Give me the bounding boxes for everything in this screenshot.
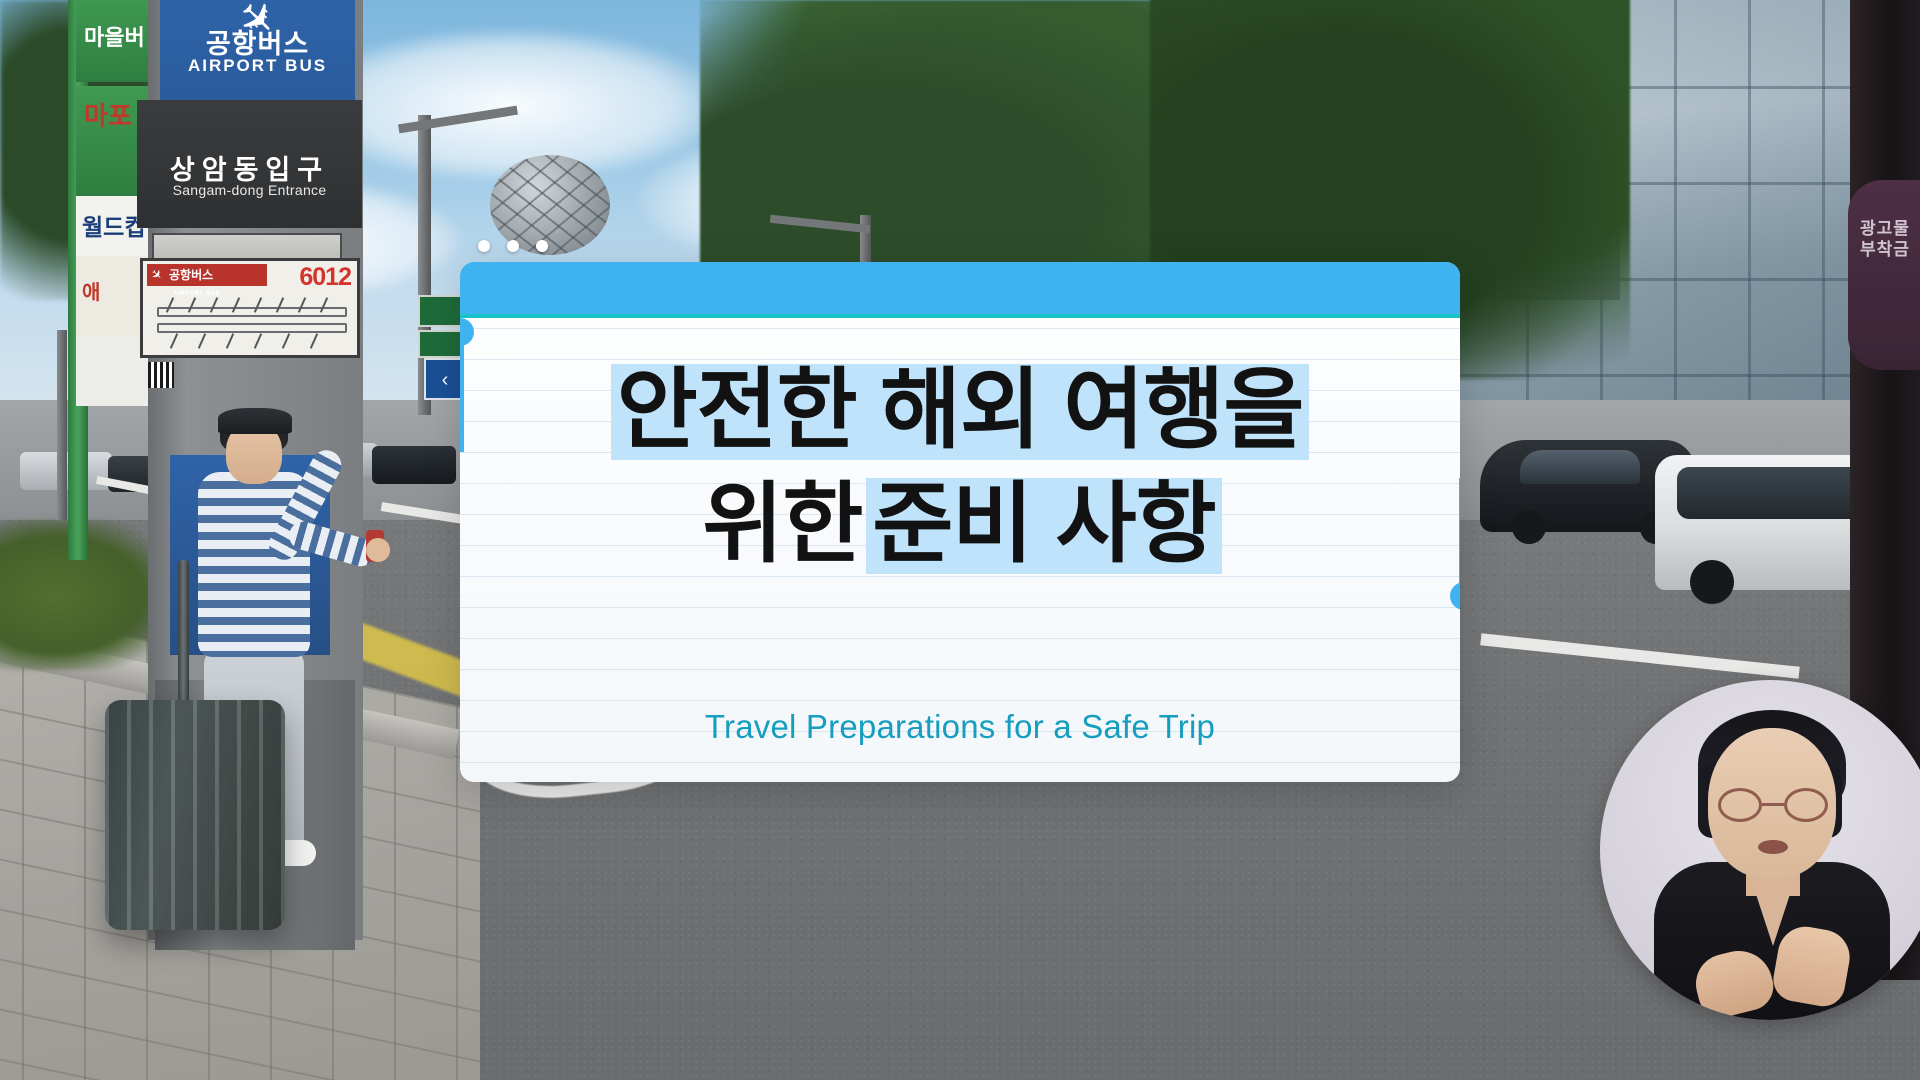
window-dot-2 xyxy=(507,240,519,252)
no-advertising-line2: 부착금 xyxy=(1848,239,1920,260)
eyeglass-bridge xyxy=(1762,803,1784,806)
person-cap xyxy=(218,408,292,434)
bus-stop-name-english: Sangam-dong Entrance xyxy=(137,182,362,198)
route-badge-english: AIRPORT BUS xyxy=(173,283,220,305)
route-stop-tick xyxy=(170,333,178,348)
eyeglasses-icon xyxy=(1718,788,1828,822)
traffic-light-pole xyxy=(57,330,67,520)
person-hand xyxy=(366,538,390,562)
bus-stop-name-sign: 상암동입구 Sangam-dong Entrance xyxy=(137,100,362,228)
window-dots xyxy=(478,240,548,252)
route-stop-tick xyxy=(254,333,262,348)
route-stop-tick xyxy=(282,333,290,348)
no-advertising-line1: 광고물 xyxy=(1848,218,1920,239)
title-card: 안전한 해외 여행을 위한준비 사항 Travel Preparations f… xyxy=(460,262,1460,782)
distant-car xyxy=(372,446,456,484)
airport-bus-sign-english: AIRPORT BUS xyxy=(160,56,355,76)
cloud xyxy=(300,30,720,180)
village-bus-sign-label: 마을버 xyxy=(84,20,145,52)
interpreter-mouth xyxy=(1758,840,1788,854)
suitcase-handle xyxy=(178,560,189,710)
route-stop-tick xyxy=(310,333,318,348)
car-wheel xyxy=(1690,560,1734,604)
window-dot-3 xyxy=(536,240,548,252)
title-line-1: 안전한 해외 여행을 xyxy=(460,364,1460,460)
route-badge-korean: 공항버스 xyxy=(169,268,213,282)
title-line-2-highlight-text: 준비 사항 xyxy=(866,478,1221,574)
title-block: 안전한 해외 여행을 위한준비 사항 xyxy=(460,340,1460,574)
ae-sign-label: 애 xyxy=(82,276,100,305)
car-wheel xyxy=(1512,510,1546,544)
route-line-diagram xyxy=(157,307,347,317)
eyeglass-lens-left xyxy=(1718,788,1762,822)
route-badge: 공항버스 AIRPORT BUS xyxy=(147,264,267,286)
card-header-accent-line xyxy=(460,314,1460,318)
accent-pin-bottom-right xyxy=(1459,478,1460,586)
worldcup-sign-label: 월드컵 xyxy=(82,208,145,242)
title-line-2-plain-text: 위한 xyxy=(698,478,866,574)
route-line-diagram xyxy=(157,323,347,333)
title-line-1-text: 안전한 해외 여행을 xyxy=(611,364,1310,460)
suitcase xyxy=(105,700,285,930)
qr-code-icon xyxy=(148,362,174,388)
title-line-2: 위한준비 사항 xyxy=(460,478,1460,574)
route-stop-tick xyxy=(226,333,234,348)
video-frame: ‹ 마을버 마포 월드컵 애 ✈ 공항버스 AIRPORT BUS xyxy=(0,0,1920,1080)
route-number: 6012 xyxy=(299,263,351,292)
eyeglass-lens-right xyxy=(1784,788,1828,822)
route-stop-tick xyxy=(198,333,206,348)
window-dot-1 xyxy=(478,240,490,252)
no-advertising-sign: 광고물 부착금 xyxy=(1848,180,1920,370)
sign-language-interpreter-overlay xyxy=(1600,680,1920,1020)
accent-pin-top-left xyxy=(460,340,464,452)
card-subtitle: Travel Preparations for a Safe Trip xyxy=(460,708,1460,746)
bus-route-board: 공항버스 AIRPORT BUS 6012 xyxy=(140,258,360,358)
card-header-bar xyxy=(460,262,1460,314)
airport-bus-sign: ✈ 공항버스 AIRPORT BUS xyxy=(160,0,355,100)
mapo-sign-label: 마포 xyxy=(84,96,132,133)
